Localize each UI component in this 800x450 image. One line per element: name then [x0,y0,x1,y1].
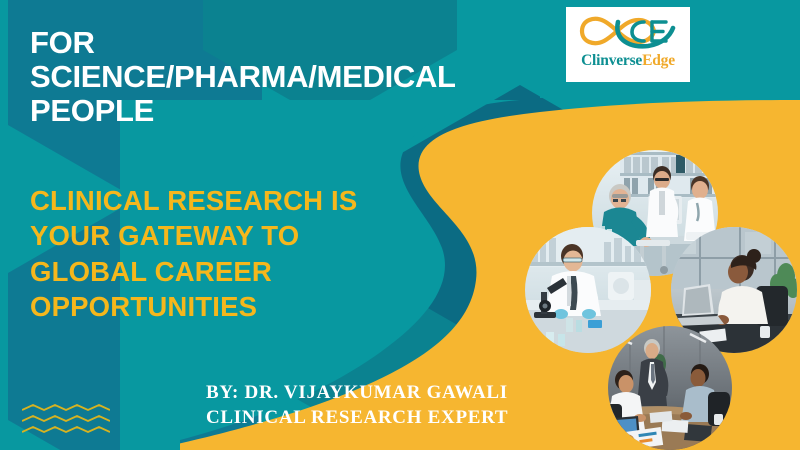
headline-line-2: SCIENCE/PHARMA/MEDICAL [30,60,530,94]
byline: BY: DR. VIJAYKUMAR GAWALI CLINICAL RESEA… [206,381,508,430]
byline-author: BY: DR. VIJAYKUMAR GAWALI [206,381,508,406]
logo-word-edge: Edge [642,52,675,69]
subheadline-line-1: CLINICAL RESEARCH IS [30,183,500,218]
subheadline: CLINICAL RESEARCH IS YOUR GATEWAY TO GLO… [30,183,500,325]
photo-microscope-scientist [525,227,651,353]
headline: FOR SCIENCE/PHARMA/MEDICAL PEOPLE [30,26,530,127]
subheadline-line-2: YOUR GATEWAY TO [30,218,500,253]
brand-logo[interactable]: ClinverseEdge [566,7,690,82]
ce-infinity-monogram-icon [574,10,682,52]
headline-line-1: FOR [30,26,530,60]
headline-line-3: PEOPLE [30,94,530,128]
subheadline-line-4: OPPORTUNITIES [30,289,500,324]
brand-logo-wordmark: ClinverseEdge [581,53,675,69]
yellow-zigzag-waves [22,404,110,438]
logo-word-clinverse: Clinverse [581,52,642,69]
subheadline-line-3: GLOBAL CAREER [30,254,500,289]
poster-canvas: FOR SCIENCE/PHARMA/MEDICAL PEOPLE CLINIC… [0,0,800,450]
byline-title: CLINICAL RESEARCH EXPERT [206,406,508,431]
